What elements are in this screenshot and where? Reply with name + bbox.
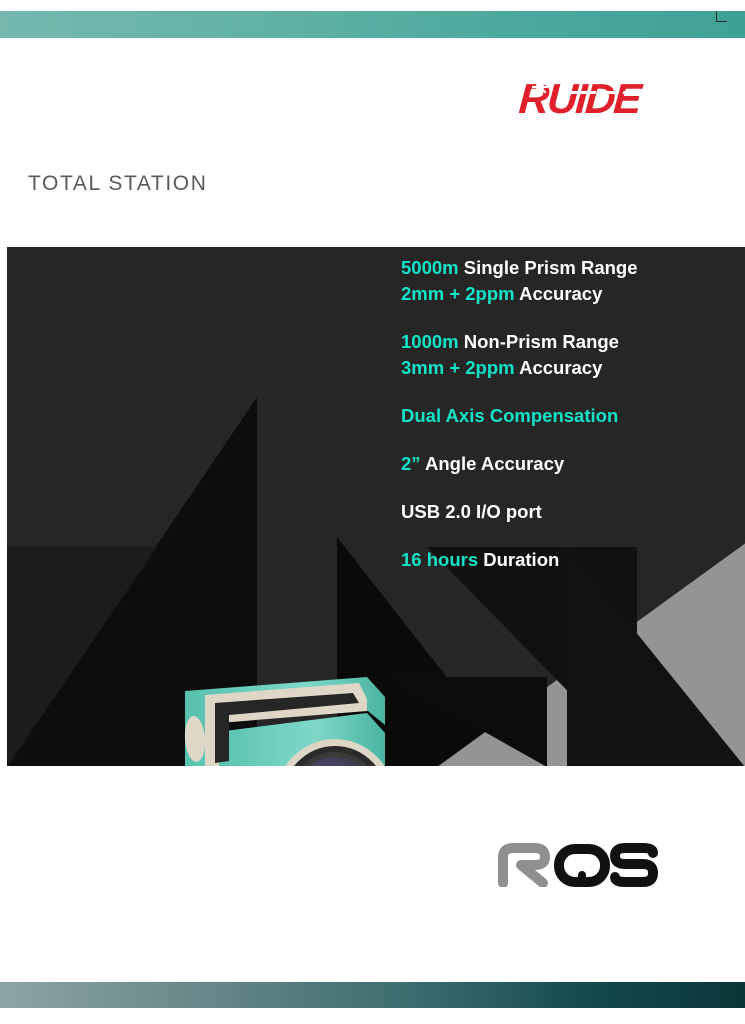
- rqs-logo-mark: [497, 843, 661, 887]
- spec-line: 3mm + 2ppm Accuracy: [401, 355, 731, 381]
- spec-value: Dual Axis Compensation: [401, 405, 618, 426]
- spec-label: Angle Accuracy: [421, 453, 565, 474]
- top-brand-bar: [0, 11, 745, 38]
- bottom-brand-bar: [0, 982, 745, 1008]
- spec-group: 5000m Single Prism Range2mm + 2ppm Accur…: [401, 255, 731, 307]
- spec-value: 1000m: [401, 331, 459, 352]
- logo-slash-3: [622, 91, 639, 94]
- crop-mark-top-right: [716, 11, 727, 22]
- page-title: TOTAL STATION: [28, 172, 207, 196]
- spec-line: 16 hours Duration: [401, 547, 731, 573]
- spec-line: 1000m Non-Prism Range: [401, 329, 731, 355]
- spec-group: 16 hours Duration: [401, 547, 731, 573]
- spec-line: Dual Axis Compensation: [401, 403, 731, 429]
- logo-slash-1: [565, 91, 596, 94]
- spec-label: Single Prism Range: [459, 257, 638, 278]
- spec-label: Accuracy: [515, 357, 603, 378]
- spec-list: 5000m Single Prism Range2mm + 2ppm Accur…: [401, 255, 731, 595]
- spec-line: 5000m Single Prism Range: [401, 255, 731, 281]
- rqs-logo: [497, 843, 661, 887]
- background-facet-lower: [387, 677, 547, 766]
- total-station-image: -Program----- 1.2Pt.Ref.L 2.Ref.Arc 3.Ri…: [67, 677, 407, 766]
- spec-group: 2” Angle Accuracy: [401, 451, 731, 477]
- spec-line: 2mm + 2ppm Accuracy: [401, 281, 731, 307]
- hero-panel: 5000m Single Prism Range2mm + 2ppm Accur…: [7, 247, 745, 766]
- spec-line: 2” Angle Accuracy: [401, 451, 731, 477]
- spec-line: USB 2.0 I/O port: [401, 499, 731, 525]
- starburst-icon: [532, 79, 548, 95]
- spec-label: Duration: [478, 549, 559, 570]
- spec-label: Accuracy: [515, 283, 603, 304]
- spec-value: 16 hours: [401, 549, 478, 570]
- spec-group: Dual Axis Compensation: [401, 403, 731, 429]
- spec-group: 1000m Non-Prism Range3mm + 2ppm Accuracy: [401, 329, 731, 381]
- ruide-logo: RUIDE: [519, 78, 687, 120]
- logo-slash-2: [602, 91, 619, 94]
- spec-value: 2”: [401, 453, 421, 474]
- spec-label: Non-Prism Range: [459, 331, 619, 352]
- spec-value: 2mm + 2ppm: [401, 283, 515, 304]
- spec-value: 3mm + 2ppm: [401, 357, 515, 378]
- spec-label: USB 2.0 I/O port: [401, 501, 542, 522]
- logo-slash-4: [644, 91, 671, 94]
- spec-group: USB 2.0 I/O port: [401, 499, 731, 525]
- spec-value: 5000m: [401, 257, 459, 278]
